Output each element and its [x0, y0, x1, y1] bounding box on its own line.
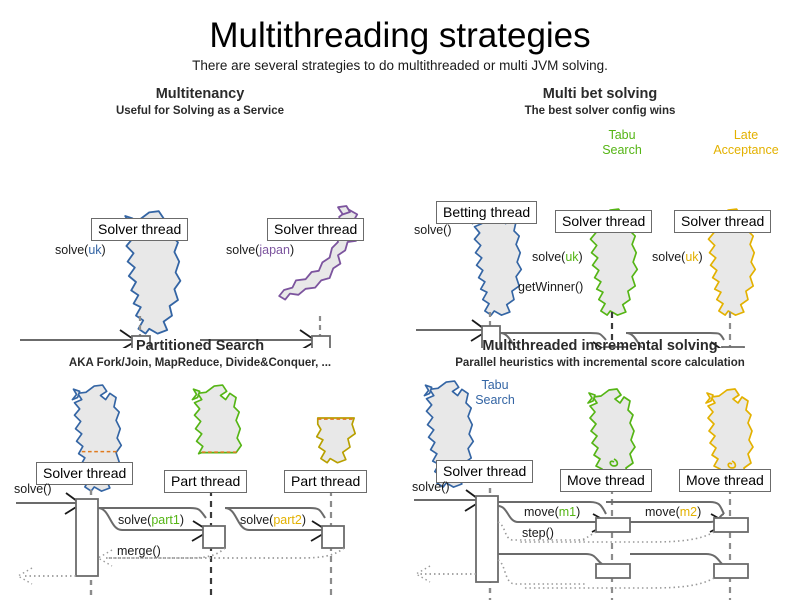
algo-label-tabu-search: Tabu Search [460, 378, 530, 408]
thread-box-solver-1[interactable]: Solver thread [555, 210, 652, 233]
call-arrow [630, 554, 722, 564]
algo-label-late-acceptance: Late Acceptance [700, 128, 792, 158]
return-arrow [522, 578, 714, 588]
message-label-move-m1: move(m1) [524, 505, 580, 519]
algo-line-1: Late [700, 128, 792, 143]
message-label-solve-uk-2: solve(uk) [652, 250, 703, 264]
msg-arg: m1 [559, 505, 576, 519]
thread-box-move-2[interactable]: Move thread [679, 469, 771, 492]
activation-bar-solver [76, 499, 98, 576]
thread-box-move-1[interactable]: Move thread [560, 469, 652, 492]
msg-prefix: solve( [652, 250, 685, 264]
algo-line-2: Acceptance [700, 143, 792, 158]
activation-bar-move-1-b [596, 564, 630, 578]
diagram-canvas: Multithreading strategies There are seve… [0, 0, 800, 600]
activation-bar-part-1 [203, 526, 225, 548]
msg-prefix: solve( [118, 513, 151, 527]
message-label-step: step() [522, 526, 554, 540]
msg-prefix: solve( [226, 243, 259, 257]
msg-arg: m2 [680, 505, 697, 519]
thread-box-solver-2[interactable]: Solver thread [674, 210, 771, 233]
msg-suffix: ) [302, 513, 306, 527]
uk-map [472, 209, 521, 315]
sequence-diagram-multitenancy [0, 84, 400, 348]
algo-line-2: Search [460, 393, 530, 408]
msg-suffix: ) [180, 513, 184, 527]
activation-bar-move-2 [714, 518, 748, 532]
section-partitioned-search: Partitioned Search AKA Fork/Join, MapRed… [0, 336, 400, 600]
thread-box-solver[interactable]: Solver thread [436, 460, 533, 483]
msg-arg: part2 [273, 513, 302, 527]
message-label-solve: solve() [412, 480, 450, 494]
page-subtitle: There are several strategies to do multi… [0, 58, 800, 73]
activation-bar-move-2-b [714, 564, 748, 578]
msg-suffix: ) [290, 243, 294, 257]
msg-suffix: ) [576, 505, 580, 519]
msg-suffix: ) [102, 243, 106, 257]
thread-box-solver-1[interactable]: Solver thread [91, 218, 188, 241]
msg-arg: part1 [151, 513, 180, 527]
message-label-solve-japan: solve(japan) [226, 243, 294, 257]
message-label-solve: solve() [414, 223, 452, 237]
arrow-head-return [416, 566, 430, 582]
msg-suffix: ) [699, 250, 703, 264]
algo-line-2: Search [587, 143, 657, 158]
msg-prefix: solve( [532, 250, 565, 264]
section-multitenancy: Multitenancy Useful for Solving as a Ser… [0, 84, 400, 342]
algo-line-1: Tabu [587, 128, 657, 143]
section-multi-bet-solving: Multi bet solving The best solver config… [400, 84, 800, 342]
thread-box-part-1[interactable]: Part thread [164, 470, 247, 493]
message-label-solve-uk: solve(uk) [55, 243, 106, 257]
message-label-getwinner: getWinner() [518, 280, 583, 294]
uk-map-part2 [317, 418, 355, 463]
msg-prefix: move( [645, 505, 680, 519]
activation-bar-move-1 [596, 518, 630, 532]
msg-prefix: solve( [55, 243, 88, 257]
msg-suffix: ) [579, 250, 583, 264]
msg-suffix: ) [697, 505, 701, 519]
activation-bar-part-2 [322, 526, 344, 548]
msg-arg: japan [259, 243, 290, 257]
msg-arg: uk [88, 243, 101, 257]
msg-arg: uk [565, 250, 578, 264]
page-title: Multithreading strategies [0, 16, 800, 56]
return-arrow [578, 532, 596, 540]
msg-arg: uk [685, 250, 698, 264]
activation-bar-solver [476, 496, 498, 582]
section-multithreaded-incremental-solving: Multithreaded incremental solving Parall… [400, 336, 800, 600]
algo-line-1: Tabu [460, 378, 530, 393]
algo-label-tabu-search: Tabu Search [587, 128, 657, 158]
thread-box-part-2[interactable]: Part thread [284, 470, 367, 493]
message-label-solve: solve() [14, 482, 52, 496]
uk-map-part1 [192, 385, 241, 454]
message-label-merge: merge() [117, 544, 161, 558]
msg-prefix: move( [524, 505, 559, 519]
thread-box-solver-2[interactable]: Solver thread [267, 218, 364, 241]
message-label-solve-part1: solve(part1) [118, 513, 184, 527]
msg-prefix: solve( [240, 513, 273, 527]
message-label-solve-part2: solve(part2) [240, 513, 306, 527]
message-label-move-m2: move(m2) [645, 505, 701, 519]
call-arrow [498, 554, 602, 564]
message-label-solve-uk-1: solve(uk) [532, 250, 583, 264]
return-arrow [498, 560, 586, 584]
thread-box-betting[interactable]: Betting thread [436, 201, 537, 224]
